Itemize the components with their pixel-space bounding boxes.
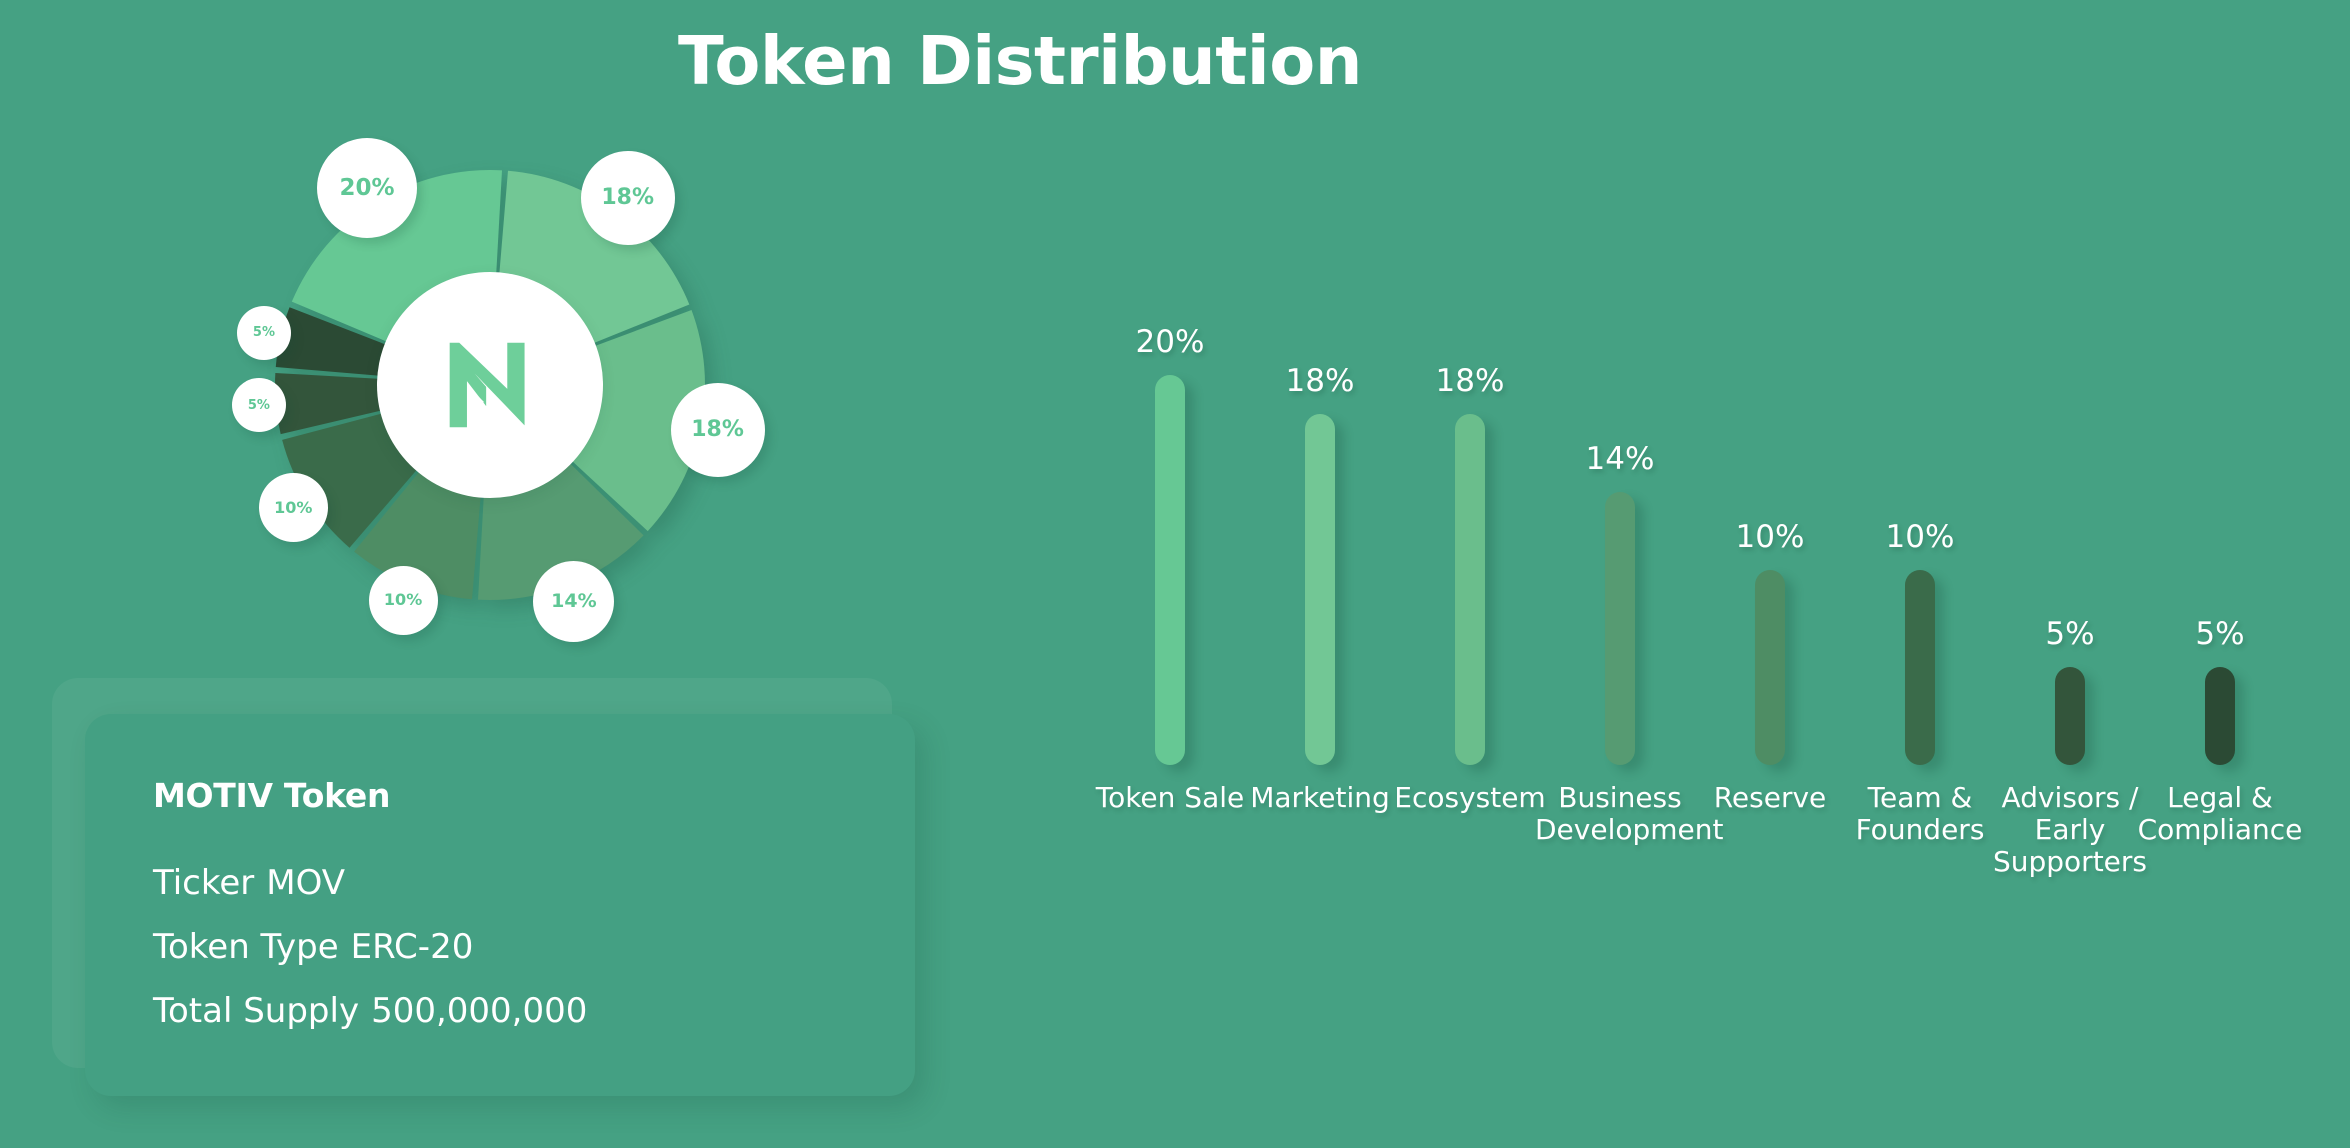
bar-value-label: 20% — [1095, 327, 1245, 358]
bar-category-label: Token Sale — [1085, 782, 1255, 814]
bar-value-label: 18% — [1395, 366, 1545, 397]
info-row-total-supply-label: Total Supply — [153, 991, 359, 1031]
donut-bubble-10-a: 10% — [369, 566, 438, 635]
token-info-card: MOTIV Token TickerMOV Token TypeERC-20 T… — [52, 678, 902, 1098]
bar-value-label: 14% — [1545, 444, 1695, 475]
bar-value-label: 5% — [2145, 619, 2295, 650]
info-row-ticker: TickerMOV — [153, 866, 853, 900]
bar-value-label: 10% — [1695, 522, 1845, 553]
info-row-total-supply: Total Supply500,000,000 — [153, 994, 853, 1028]
bar-column: 10%Reserve — [1695, 180, 1845, 960]
bar-column: 14%Business Development — [1545, 180, 1695, 960]
bar[interactable] — [2055, 667, 2085, 765]
bar-value-label: 10% — [1845, 522, 1995, 553]
donut-bubble-20: 20% — [317, 138, 417, 238]
bar-column: 5%Advisors / Early Supporters — [1995, 180, 2145, 960]
bar[interactable] — [1755, 570, 1785, 765]
info-row-total-supply-value: 500,000,000 — [371, 991, 587, 1031]
bar-column: 18%Ecosystem — [1395, 180, 1545, 960]
donut-chart: 20% 18% 18% 14% 10% 10% 5% 5% — [240, 140, 740, 640]
donut-bubble-18-b: 18% — [671, 383, 765, 477]
info-card-surface: MOTIV Token TickerMOV Token TypeERC-20 T… — [85, 714, 915, 1096]
bar-value-label: 18% — [1245, 366, 1395, 397]
bar-category-label: Marketing — [1235, 782, 1405, 814]
bar[interactable] — [1455, 414, 1485, 765]
donut-center-hub — [377, 272, 603, 498]
bar[interactable] — [1305, 414, 1335, 765]
donut-bubble-5-b: 5% — [237, 306, 291, 360]
info-row-ticker-value: MOV — [266, 863, 345, 903]
bar[interactable] — [1605, 492, 1635, 765]
bar-column: 20%Token Sale — [1095, 180, 1245, 960]
info-card-rows: TickerMOV Token TypeERC-20 Total Supply5… — [153, 866, 853, 1028]
bar-category-label: Legal & Compliance — [2135, 782, 2305, 846]
donut-bubble-14: 14% — [533, 561, 614, 642]
bar-category-label: Advisors / Early Supporters — [1985, 782, 2155, 879]
bar-category-label: Business Development — [1535, 782, 1705, 846]
bar[interactable] — [1905, 570, 1935, 765]
bar-category-label: Ecosystem — [1385, 782, 1555, 814]
info-card-title: MOTIV Token — [153, 776, 390, 815]
bar-column: 18%Marketing — [1245, 180, 1395, 960]
bar-value-label: 5% — [1995, 619, 2145, 650]
info-row-token-type-label: Token Type — [153, 927, 339, 967]
page-title: Token Distribution — [0, 28, 2195, 95]
bar-category-label: Team & Founders — [1835, 782, 2005, 846]
info-row-token-type: Token TypeERC-20 — [153, 930, 853, 964]
donut-bubble-5-a: 5% — [232, 378, 286, 432]
bar-column: 5%Legal & Compliance — [2145, 180, 2295, 960]
bar-category-label: Reserve — [1685, 782, 1855, 814]
bar-column: 10%Team & Founders — [1845, 180, 1995, 960]
info-row-token-type-value: ERC-20 — [351, 927, 474, 967]
bar[interactable] — [2205, 667, 2235, 765]
info-row-ticker-label: Ticker — [153, 863, 254, 903]
motiv-m-logo-icon — [442, 337, 538, 433]
bar-chart: 20%Token Sale18%Marketing18%Ecosystem14%… — [1095, 180, 2315, 960]
bar[interactable] — [1155, 375, 1185, 765]
donut-bubble-10-b: 10% — [259, 473, 328, 542]
donut-bubble-18-a: 18% — [581, 151, 675, 245]
